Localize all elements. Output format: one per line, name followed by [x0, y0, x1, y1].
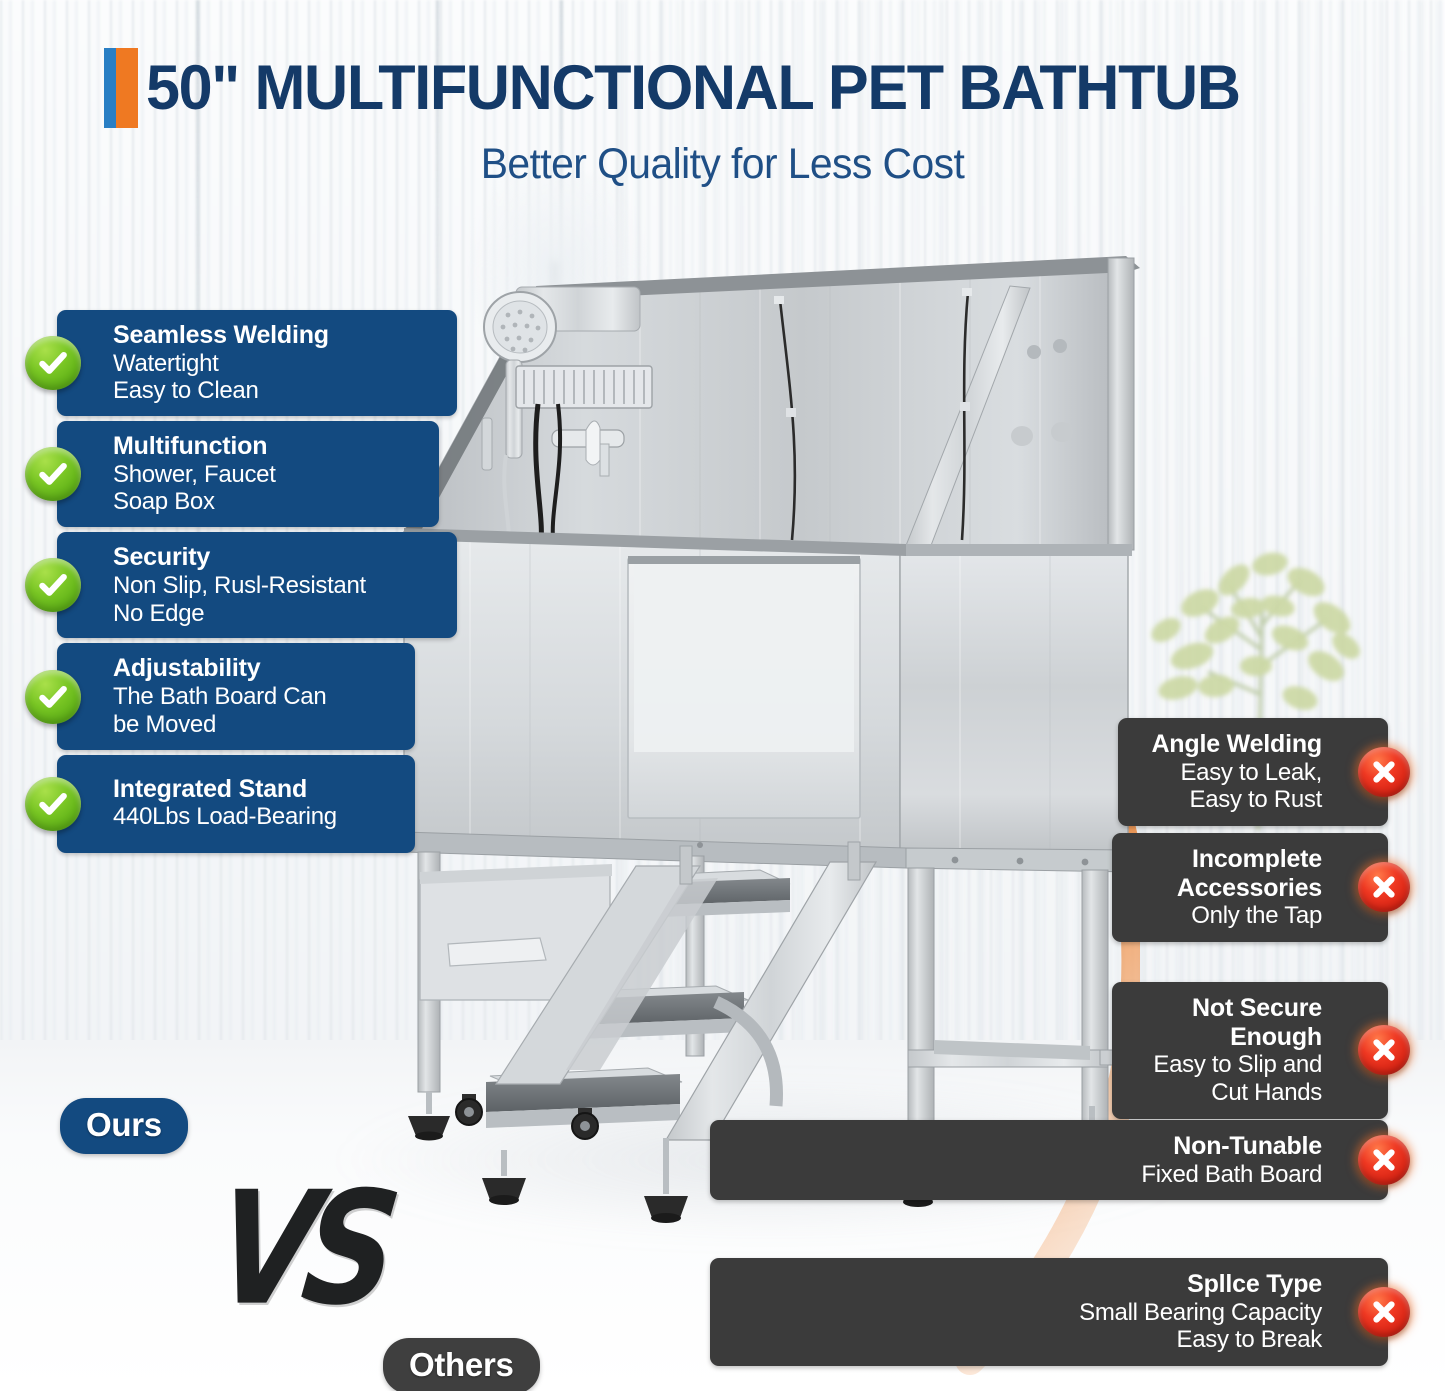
check-circle-icon [25, 447, 81, 501]
feature-badge-multifunction[interactable]: Multifunction Shower, Faucet Soap Box [57, 421, 439, 527]
drawback-line: Easy to Break [726, 1326, 1322, 1354]
infographic-canvas: 50" MULTIFUNCTIONAL PET BATHTUB Better Q… [0, 0, 1445, 1391]
feature-title: Integrated Stand [113, 775, 401, 804]
x-circle-icon [1358, 1135, 1410, 1185]
drawback-badge-spllce-type[interactable]: Spllce Type Small Bearing Capacity Easy … [710, 1258, 1388, 1366]
check-circle-icon [25, 558, 81, 612]
faucet-handle [586, 421, 600, 465]
feature-line: 440Lbs Load-Bearing [113, 803, 401, 831]
ours-label-pill: Ours [60, 1098, 188, 1154]
bath-board-top-rail [628, 556, 860, 564]
drawback-line: Easy to Leak, [1134, 759, 1322, 787]
feature-line: Soap Box [113, 488, 425, 516]
feature-line: The Bath Board Can [113, 683, 401, 711]
page-title: 50" MULTIFUNCTIONAL PET BATHTUB [146, 57, 1240, 120]
right-post [1108, 258, 1134, 550]
caster-wheel [456, 1094, 482, 1125]
adjustable-foot [482, 1150, 526, 1205]
x-circle-icon [1358, 747, 1410, 797]
stair-bracket [680, 846, 692, 884]
feature-title: Security [113, 543, 443, 572]
stand-leg [1082, 870, 1108, 1142]
faucet-spout [600, 444, 609, 476]
feature-line: Shower, Faucet [113, 461, 425, 489]
accent-bar-orange [116, 48, 138, 128]
feature-badge-security[interactable]: Security Non Slip, Rusl-Resistant No Edg… [57, 532, 457, 638]
check-circle-icon [25, 777, 81, 831]
wall-knob-icon [1011, 426, 1033, 446]
x-circle-icon [1358, 862, 1410, 912]
feature-line: Non Slip, Rusl-Resistant [113, 572, 443, 600]
ours-feature-list: Seamless Welding Watertight Easy to Clea… [57, 310, 457, 858]
feature-line: be Moved [113, 711, 401, 739]
accent-bar-blue [104, 48, 116, 128]
drawback-title: Not Secure Enough [1128, 994, 1322, 1051]
feature-badge-seamless-welding[interactable]: Seamless Welding Watertight Easy to Clea… [57, 310, 457, 416]
drawback-line: Easy to Slip and [1128, 1051, 1322, 1079]
drawback-line: Fixed Bath Board [726, 1161, 1322, 1189]
drawback-line: Cut Hands [1128, 1079, 1322, 1107]
feature-badge-integrated-stand[interactable]: Integrated Stand 440Lbs Load-Bearing [57, 755, 415, 853]
feature-line: Watertight [113, 350, 443, 378]
feature-title: Adjustability [113, 654, 401, 683]
drawback-title: Spllce Type [726, 1270, 1322, 1299]
adjustable-foot [644, 1138, 688, 1223]
hose-bracket [482, 418, 492, 470]
cord-clip [960, 402, 970, 411]
title-row: 50" MULTIFUNCTIONAL PET BATHTUB [104, 48, 1273, 128]
feature-line: No Edge [113, 600, 443, 628]
vs-label: VS [207, 1159, 397, 1341]
drawback-line: Small Bearing Capacity [726, 1299, 1322, 1327]
x-circle-icon [1358, 1025, 1410, 1075]
bath-board-face [634, 564, 854, 752]
drawback-title: Incomplete Accessories [1128, 845, 1322, 902]
drawback-badge-not-secure-enough[interactable]: Not Secure Enough Easy to Slip and Cut H… [1112, 982, 1388, 1119]
check-circle-icon [25, 670, 81, 724]
wall-knob-icon [1051, 422, 1073, 442]
cord-clip [962, 288, 972, 296]
tub-top-edge-right [906, 544, 1132, 556]
others-label-pill: Others [383, 1338, 540, 1391]
drawback-badge-non-tunable[interactable]: Non-Tunable Fixed Bath Board [710, 1120, 1388, 1200]
check-circle-icon [25, 336, 81, 390]
drawback-badge-angle-welding[interactable]: Angle Welding Easy to Leak, Easy to Rust [1118, 718, 1388, 826]
feature-line: Easy to Clean [113, 377, 443, 405]
stair-bracket [848, 842, 860, 880]
drawback-title: Non-Tunable [726, 1132, 1322, 1161]
cord-clip [774, 296, 784, 304]
wall-hook-icon [1027, 345, 1041, 359]
drawback-line: Only the Tap [1128, 902, 1322, 930]
title-accent-bars [104, 48, 138, 128]
feature-title: Seamless Welding [113, 321, 443, 350]
page-subtitle: Better Quality for Less Cost [36, 140, 1409, 189]
wall-hook-icon [1053, 339, 1067, 353]
drawback-badge-incomplete-accessories[interactable]: Incomplete Accessories Only the Tap [1112, 833, 1388, 942]
tub-front-right [900, 548, 1128, 856]
feature-title: Multifunction [113, 432, 425, 461]
drawback-title: Angle Welding [1134, 730, 1322, 759]
feature-badge-adjustability[interactable]: Adjustability The Bath Board Can be Move… [57, 643, 415, 749]
cord-clip [786, 408, 796, 417]
adjustable-foot [408, 1092, 450, 1141]
stand-leg [908, 868, 934, 1138]
x-circle-icon [1358, 1287, 1410, 1337]
drawback-line: Easy to Rust [1134, 786, 1322, 814]
